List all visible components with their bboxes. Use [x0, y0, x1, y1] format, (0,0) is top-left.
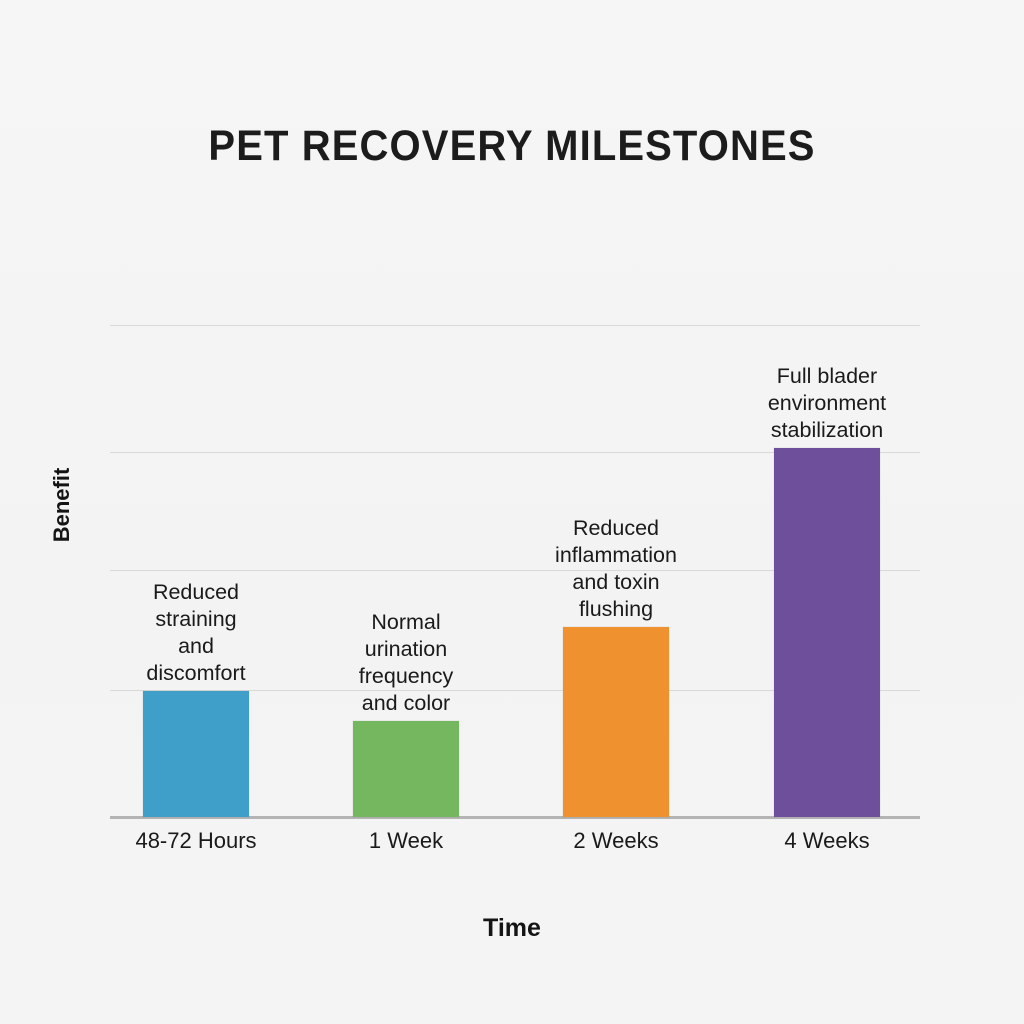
bar-annotation-2: Reduced inflammation and toxin flushing — [529, 515, 703, 623]
annotation-line: inflammation — [529, 542, 703, 569]
annotation-line: Normal — [319, 609, 493, 636]
annotation-line: flushing — [529, 596, 703, 623]
bar-annotation-3: Full blader environment stabilization — [740, 363, 914, 444]
annotation-line: and toxin — [529, 569, 703, 596]
bar-rect-2[interactable] — [563, 627, 669, 817]
annotation-line: environment — [740, 390, 914, 417]
x-tick-label-3: 4 Weeks — [707, 828, 947, 854]
x-tick-label-0: 48-72 Hours — [76, 828, 316, 854]
bar-rect-1[interactable] — [353, 721, 459, 817]
bar-group-1[interactable]: Normal urination frequency and color — [353, 721, 459, 817]
page-title: PET RECOVERY MILESTONES — [36, 122, 988, 171]
x-tick-label-1: 1 Week — [286, 828, 526, 854]
bar-annotation-0: Reduced straining and discomfort — [109, 579, 283, 687]
annotation-line: and — [109, 633, 283, 660]
annotation-line: urination — [319, 636, 493, 663]
bar-group-0[interactable]: Reduced straining and discomfort — [143, 691, 249, 817]
bar-rect-3[interactable] — [774, 448, 880, 817]
annotation-line: discomfort — [109, 660, 283, 687]
chart-figure: PET RECOVERY MILESTONES Benefit Reduced … — [0, 0, 1024, 1024]
bar-annotation-1: Normal urination frequency and color — [319, 609, 493, 717]
annotation-line: straining — [109, 606, 283, 633]
annotation-line: and color — [319, 690, 493, 717]
annotation-line: stabilization — [740, 417, 914, 444]
bar-group-2[interactable]: Reduced inflammation and toxin flushing — [563, 627, 669, 817]
x-axis-title: Time — [0, 914, 1024, 943]
x-tick-label-2: 2 Weeks — [496, 828, 736, 854]
plot-area: Reduced straining and discomfort Normal … — [110, 300, 920, 819]
gridline-4 — [110, 325, 920, 326]
annotation-line: frequency — [319, 663, 493, 690]
annotation-line: Reduced — [529, 515, 703, 542]
annotation-line: Reduced — [109, 579, 283, 606]
annotation-line: Full blader — [740, 363, 914, 390]
y-axis-title: Benefit — [49, 435, 75, 575]
bar-group-3[interactable]: Full blader environment stabilization — [774, 448, 880, 817]
bar-rect-0[interactable] — [143, 691, 249, 817]
